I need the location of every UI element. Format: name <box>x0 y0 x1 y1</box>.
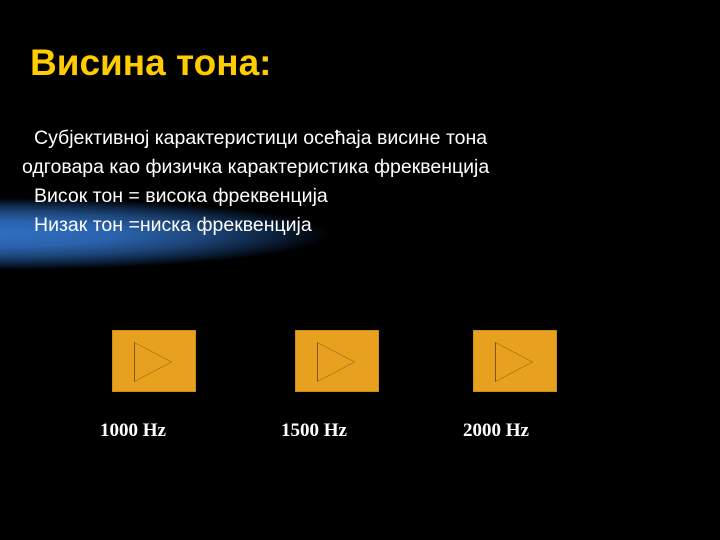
frequency-labels-row: 1000 Hz 1500 Hz 2000 Hz <box>0 420 720 446</box>
frequency-label-1000hz: 1000 Hz <box>100 420 166 442</box>
play-triangle-inner-icon <box>135 343 171 381</box>
body-line-4: Низак тон =ниска фреквенција <box>22 211 682 240</box>
play-button-1000hz[interactable] <box>112 330 196 392</box>
body-line-1: Субјективној карактеристици осећаја виси… <box>22 124 682 153</box>
play-button-2000hz[interactable] <box>473 330 557 392</box>
frequency-label-2000hz: 2000 Hz <box>463 420 529 442</box>
page-title: Висина тона: <box>30 42 271 84</box>
body-line-2: одговара као физичка карактеристика фрек… <box>22 153 682 182</box>
slide-canvas: Висина тона: Субјективној карактеристици… <box>0 0 720 540</box>
play-triangle-inner-icon <box>496 343 532 381</box>
play-triangle-inner-icon <box>318 343 354 381</box>
frequency-label-1500hz: 1500 Hz <box>281 420 347 442</box>
play-buttons-row <box>0 330 720 402</box>
play-button-1500hz[interactable] <box>295 330 379 392</box>
body-text-block: Субјективној карактеристици осећаја виси… <box>22 124 682 240</box>
body-line-3: Висок тон = висока фреквенција <box>22 182 682 211</box>
